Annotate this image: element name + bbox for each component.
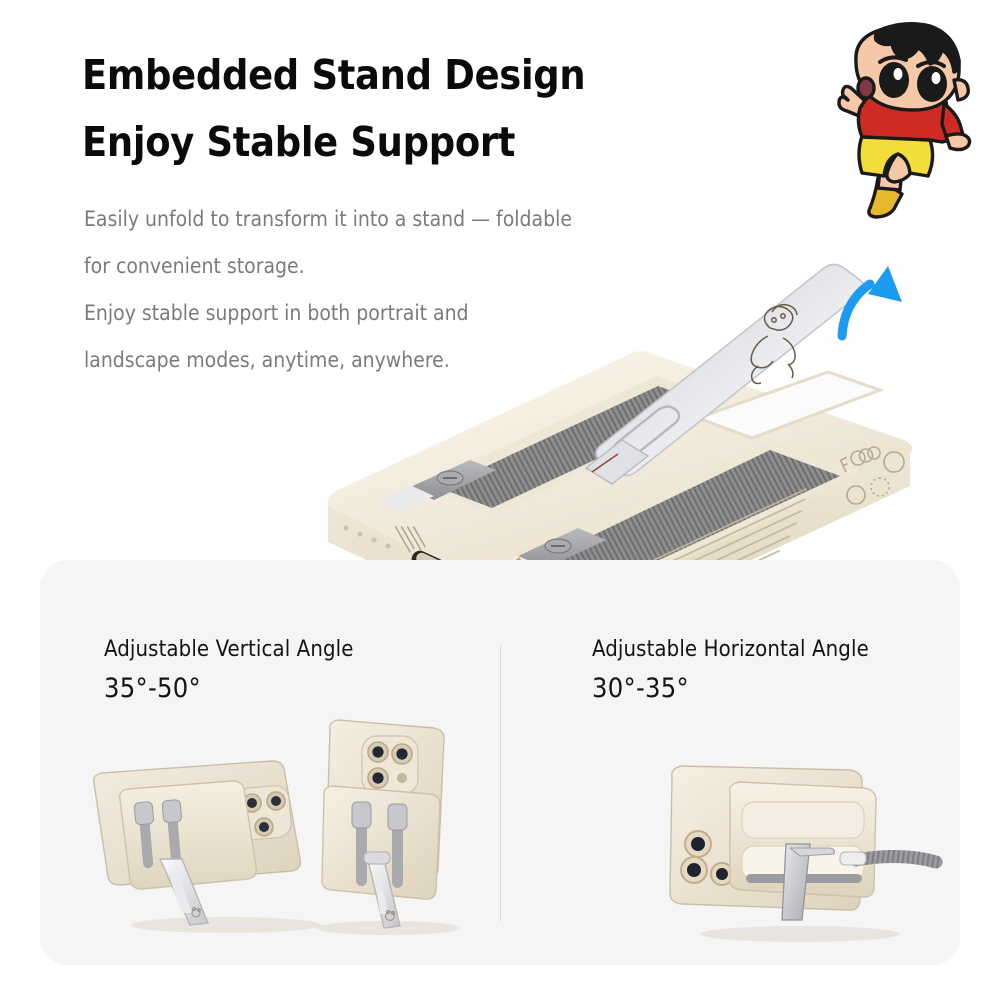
kickstand-hinge (364, 852, 390, 864)
headline-line-1: Embedded Stand Design (82, 42, 722, 109)
product-marketing-image: Embedded Stand Design Enjoy Stable Suppo… (0, 0, 1000, 1000)
column-divider (500, 645, 501, 921)
description-line-1: Easily unfold to transform it into a sta… (84, 196, 684, 243)
portrait-phone-stand (288, 700, 478, 935)
page-title: Embedded Stand Design Enjoy Stable Suppo… (82, 42, 722, 176)
unfold-direction-arrow (832, 258, 922, 348)
vertical-angle-title: Adjustable Vertical Angle (104, 637, 354, 662)
power-cable (856, 856, 936, 862)
crayon-shin-chan-mascot (818, 18, 994, 223)
landscape-phone-stand-with-cable (650, 748, 950, 943)
headline-line-2: Enjoy Stable Support (82, 109, 722, 176)
cable-connector (840, 852, 866, 865)
vertical-angle-value: 35°-50° (104, 673, 201, 704)
horizontal-angle-value: 30°-35° (592, 673, 689, 704)
horizontal-angle-title: Adjustable Horizontal Angle (592, 637, 869, 662)
